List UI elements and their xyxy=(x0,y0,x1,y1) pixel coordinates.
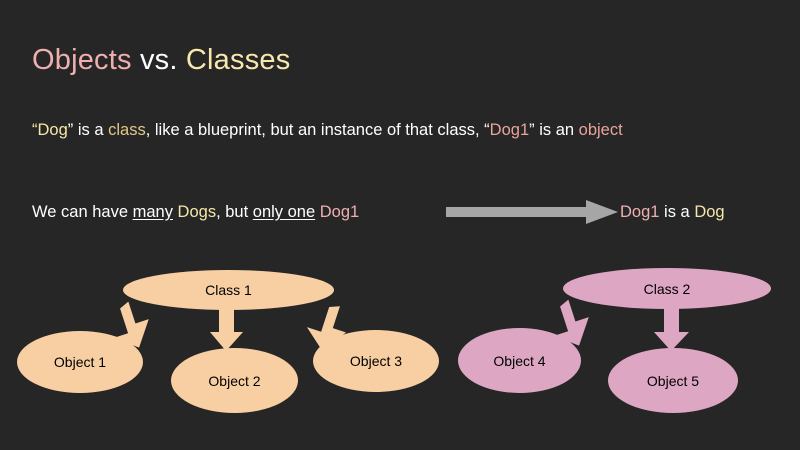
term-dogs: Dogs xyxy=(178,203,217,221)
title-word-classes: Classes xyxy=(186,44,291,76)
definition-text-2: , like a blueprint, but an instance of t… xyxy=(146,121,490,139)
page-title: Objects vs. Classes xyxy=(32,43,290,77)
node-object-2[interactable]: Object 2 xyxy=(171,348,298,413)
node-object-3[interactable]: Object 3 xyxy=(313,330,439,392)
conclusion-sentence: Dog1 is a Dog xyxy=(620,201,725,223)
cardinality-text-1: We can have xyxy=(32,203,133,221)
term-dog: Dog xyxy=(38,121,68,139)
node-object-5-label: Object 5 xyxy=(647,373,699,389)
definition-sentence: “Dog” is a class, like a blueprint, but … xyxy=(32,119,623,141)
term-class: class xyxy=(108,121,146,139)
term-dog1-line2: Dog1 xyxy=(320,203,359,221)
conclusion-text: is a xyxy=(659,203,694,221)
cardinality-sentence: We can have many Dogs, but only one Dog1 xyxy=(32,201,359,223)
node-object-4[interactable]: Object 4 xyxy=(458,328,581,393)
emphasis-only-one: only one xyxy=(253,203,315,221)
arrow-class2-to-object5 xyxy=(654,307,689,351)
class-object-diagram: Class 1 Object 1 Object 2 Object 3 Class… xyxy=(0,250,800,450)
node-object-3-label: Object 3 xyxy=(350,353,402,369)
definition-text-1: ” is a xyxy=(68,121,108,139)
node-object-4-label: Object 4 xyxy=(493,353,545,369)
term-dog1: Dog1 xyxy=(490,121,529,139)
node-object-1-label: Object 1 xyxy=(54,354,106,370)
title-word-objects: Objects xyxy=(32,44,132,76)
definition-text-3: ” is an xyxy=(529,121,579,139)
node-class-2-label: Class 2 xyxy=(644,281,691,297)
node-class-2[interactable]: Class 2 xyxy=(563,268,771,309)
slide-canvas: Objects vs. Classes “Dog” is a class, li… xyxy=(0,0,800,450)
node-object-2-label: Object 2 xyxy=(208,373,260,389)
node-object-5[interactable]: Object 5 xyxy=(608,348,738,413)
node-object-1[interactable]: Object 1 xyxy=(17,331,143,393)
term-dog-line3: Dog xyxy=(694,203,724,221)
node-class-1-label: Class 1 xyxy=(205,282,252,298)
node-class-1[interactable]: Class 1 xyxy=(123,270,334,310)
arrow-class1-to-object2 xyxy=(210,308,243,351)
right-arrow-icon xyxy=(446,199,618,225)
term-object: object xyxy=(579,121,623,139)
emphasis-many: many xyxy=(133,203,173,221)
cardinality-text-2: , but xyxy=(216,203,253,221)
title-word-vs: vs. xyxy=(132,44,186,76)
term-dog1-line3: Dog1 xyxy=(620,203,659,221)
